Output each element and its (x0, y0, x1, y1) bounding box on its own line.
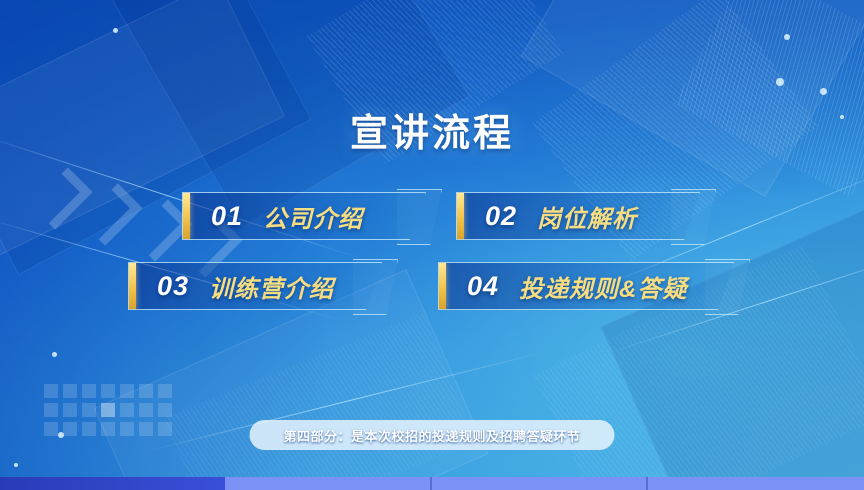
progress-buffered-segment-2[interactable] (432, 477, 648, 490)
caption-banner: 第四部分：是本次校招的投递规则及招聘答疑环节 (249, 420, 614, 450)
gold-accent-bar (183, 193, 190, 239)
agenda-item-02[interactable]: 02 岗位解析 (456, 192, 700, 240)
chevron-outline-icon (671, 189, 716, 245)
chevron-outline-icon (353, 259, 398, 315)
background-square-grid (44, 384, 172, 436)
gold-accent-bar (439, 263, 446, 309)
agenda-item-03[interactable]: 03 训练营介绍 (128, 262, 382, 310)
progress-buffered-segment-1[interactable] (225, 477, 432, 490)
agenda-item-number: 02 (485, 201, 517, 232)
agenda-item-01[interactable]: 01 公司介绍 (182, 192, 426, 240)
video-progress-bar[interactable] (0, 477, 864, 490)
agenda-item-plate: 03 训练营介绍 (128, 262, 382, 310)
agenda-item-plate: 02 岗位解析 (456, 192, 700, 240)
agenda-row-2: 03 训练营介绍 04 投递规则&答疑 (0, 262, 864, 316)
progress-buffered-segment-3[interactable] (648, 477, 864, 490)
agenda-item-number: 03 (157, 271, 189, 302)
gold-accent-bar (457, 193, 464, 239)
chevron-outline-icon (705, 259, 750, 315)
background-dot (776, 78, 784, 86)
agenda-item-plate: 01 公司介绍 (182, 192, 426, 240)
background-dot (113, 28, 118, 33)
agenda-item-number: 01 (211, 201, 243, 232)
background-dot (14, 463, 18, 467)
progress-played-segment[interactable] (0, 477, 225, 490)
agenda-item-label: 投递规则&答疑 (519, 269, 687, 304)
background-dot (784, 34, 790, 40)
presentation-slide: 宣讲流程 01 公司介绍 02 岗位解析 (0, 0, 864, 490)
agenda-row-1: 01 公司介绍 02 岗位解析 (0, 192, 864, 246)
agenda-item-label: 岗位解析 (537, 199, 637, 234)
agenda-item-number: 04 (467, 271, 499, 302)
agenda-item-label: 训练营介绍 (209, 269, 334, 304)
agenda-item-plate: 04 投递规则&答疑 (438, 262, 734, 310)
page-title: 宣讲流程 (0, 102, 864, 157)
background-dot (52, 352, 57, 357)
gold-accent-bar (129, 263, 136, 309)
agenda-item-04[interactable]: 04 投递规则&答疑 (438, 262, 734, 310)
chevron-outline-icon (397, 189, 442, 245)
background-dot (58, 432, 64, 438)
agenda-item-label: 公司介绍 (263, 199, 363, 234)
background-dot (820, 88, 827, 95)
